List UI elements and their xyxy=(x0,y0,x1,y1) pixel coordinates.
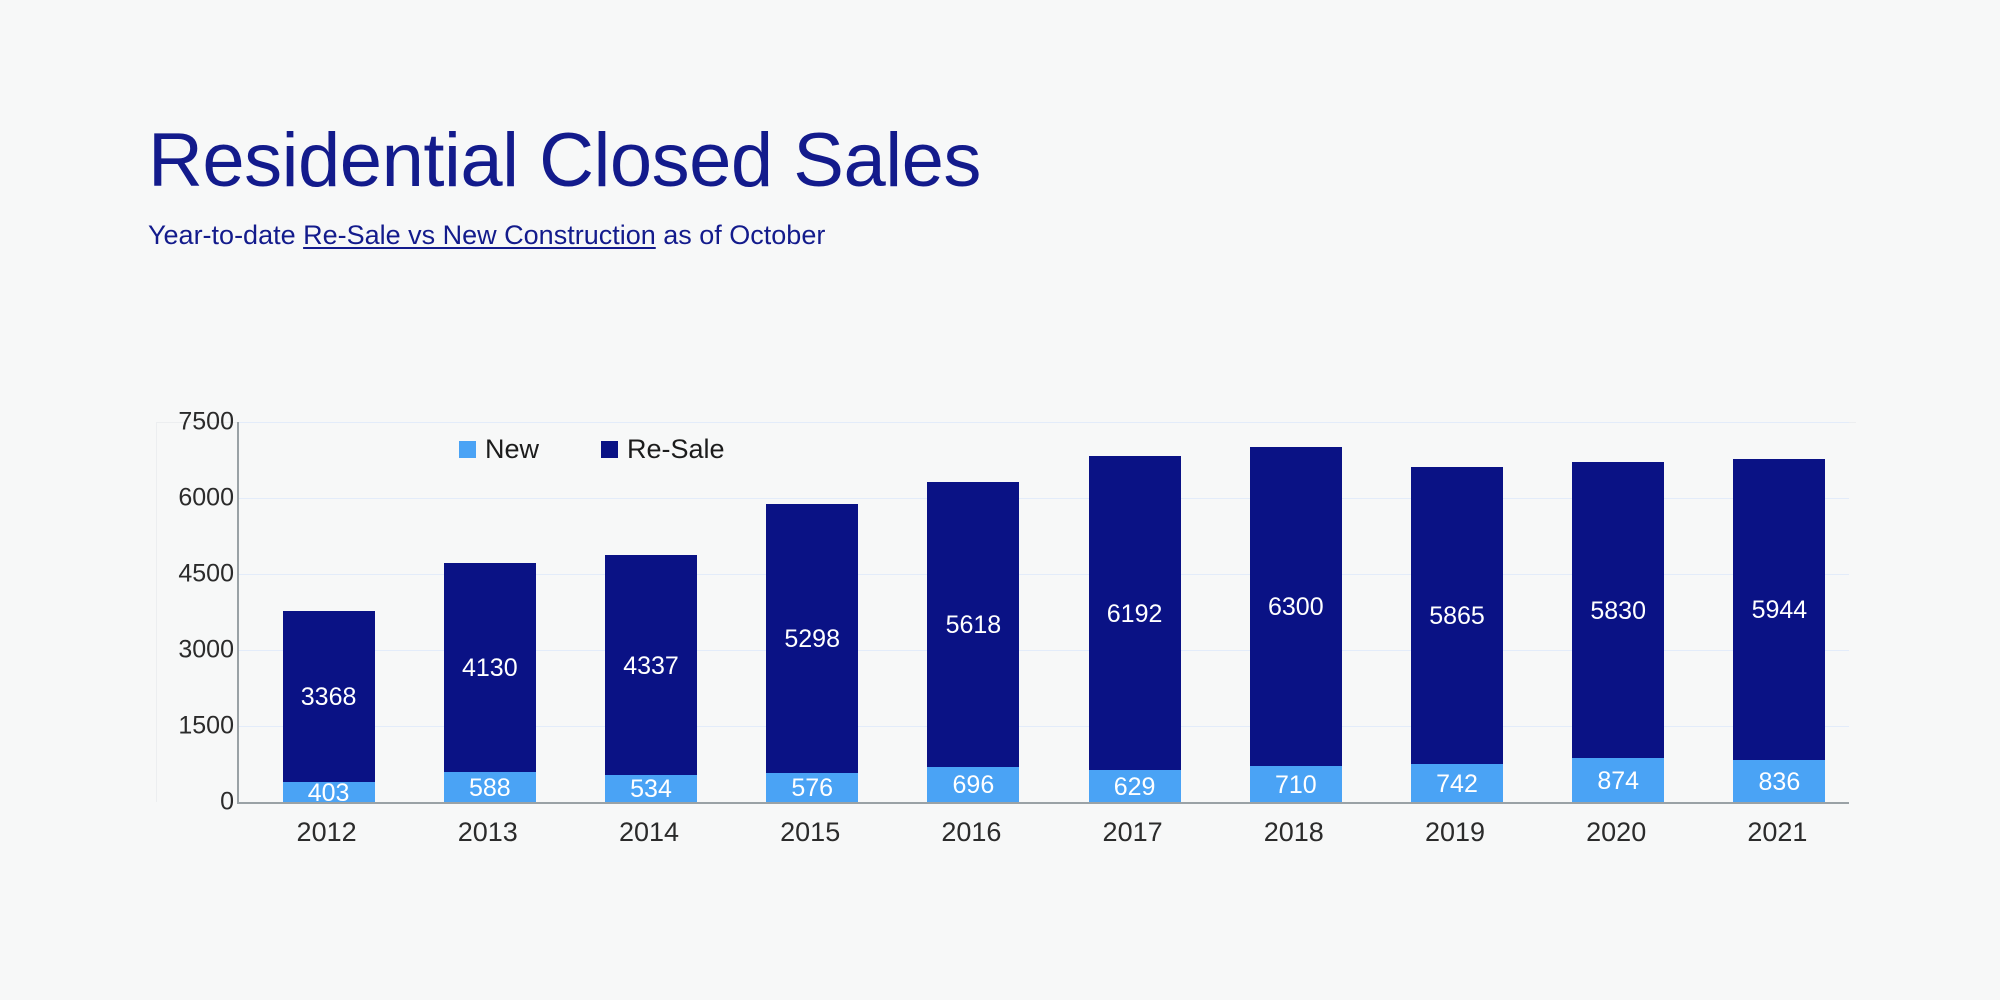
x-tick-label: 2020 xyxy=(1546,816,1686,848)
chart-legend: NewRe-Sale xyxy=(459,436,725,463)
bar-segment-resale[interactable]: 5944 xyxy=(1733,459,1825,760)
y-axis: 015003000450060007500 xyxy=(156,422,234,842)
bar-group[interactable]: 5830874 xyxy=(1572,462,1664,802)
bar-segment-new[interactable]: 534 xyxy=(605,775,697,802)
legend-item-re-sale[interactable]: Re-Sale xyxy=(601,436,725,463)
bar-value-label: 874 xyxy=(1597,769,1639,794)
bar-value-label: 5944 xyxy=(1752,598,1808,623)
bar-segment-resale[interactable]: 6300 xyxy=(1250,447,1342,766)
bar-value-label: 576 xyxy=(791,776,833,801)
bar-segment-new[interactable]: 836 xyxy=(1733,760,1825,802)
y-tick-label: 3000 xyxy=(178,638,234,663)
bar-group[interactable]: 6192629 xyxy=(1089,456,1181,802)
x-tick-label: 2021 xyxy=(1707,816,1847,848)
bar-segment-new[interactable]: 874 xyxy=(1572,758,1664,802)
bar-value-label: 6192 xyxy=(1107,602,1163,627)
bar-value-label: 710 xyxy=(1275,773,1317,798)
bar-segment-resale[interactable]: 5865 xyxy=(1411,467,1503,764)
bar-value-label: 5618 xyxy=(946,613,1002,638)
bar-value-label: 588 xyxy=(469,776,511,801)
bar-value-label: 836 xyxy=(1759,770,1801,795)
bar-group[interactable]: 4337534 xyxy=(605,555,697,802)
legend-item-new[interactable]: New xyxy=(459,436,539,463)
page-subtitle: Year-to-date Re-Sale vs New Construction… xyxy=(148,218,1848,252)
bars-layer: 3368403413058843375345298576561869661926… xyxy=(239,422,1849,802)
bar-segment-new[interactable]: 742 xyxy=(1411,764,1503,802)
bar-group[interactable]: 5298576 xyxy=(766,504,858,802)
bar-value-label: 742 xyxy=(1436,772,1478,797)
legend-label: Re-Sale xyxy=(627,436,725,463)
x-tick-label: 2018 xyxy=(1224,816,1364,848)
bar-chart: 015003000450060007500 336840341305884337… xyxy=(156,422,1856,842)
legend-label: New xyxy=(485,436,539,463)
slide-canvas: Residential Closed Sales Year-to-date Re… xyxy=(0,0,2000,1000)
subtitle-suffix: as of October xyxy=(656,220,826,250)
bar-group[interactable]: 3368403 xyxy=(283,611,375,802)
bar-value-label: 5865 xyxy=(1429,604,1485,629)
bar-segment-resale[interactable]: 5298 xyxy=(766,504,858,772)
x-tick-label: 2015 xyxy=(740,816,880,848)
subtitle-prefix: Year-to-date xyxy=(148,220,303,250)
x-axis: 2012201320142015201620172018201920202021 xyxy=(237,816,1849,862)
x-tick-label: 2012 xyxy=(257,816,397,848)
bar-value-label: 534 xyxy=(630,777,672,802)
bar-segment-resale[interactable]: 4130 xyxy=(444,563,536,772)
legend-swatch-icon xyxy=(601,441,618,458)
x-tick-label: 2017 xyxy=(1063,816,1203,848)
bar-group[interactable]: 4130588 xyxy=(444,563,536,802)
bar-segment-resale[interactable]: 5618 xyxy=(927,482,1019,767)
bar-group[interactable]: 5944836 xyxy=(1733,459,1825,803)
bar-segment-new[interactable]: 696 xyxy=(927,767,1019,802)
bar-segment-resale[interactable]: 3368 xyxy=(283,611,375,782)
bar-segment-new[interactable]: 576 xyxy=(766,773,858,802)
bar-segment-new[interactable]: 710 xyxy=(1250,766,1342,802)
bar-segment-new[interactable]: 403 xyxy=(283,782,375,802)
x-tick-label: 2013 xyxy=(418,816,558,848)
bar-group[interactable]: 5618696 xyxy=(927,482,1019,802)
x-tick-label: 2014 xyxy=(579,816,719,848)
x-tick-label: 2019 xyxy=(1385,816,1525,848)
x-tick-label: 2016 xyxy=(901,816,1041,848)
page-title: Residential Closed Sales xyxy=(148,118,1848,204)
slide-header: Residential Closed Sales Year-to-date Re… xyxy=(148,118,1848,252)
bar-value-label: 4337 xyxy=(623,654,679,679)
bar-segment-new[interactable]: 588 xyxy=(444,772,536,802)
legend-swatch-icon xyxy=(459,441,476,458)
bar-segment-new[interactable]: 629 xyxy=(1089,770,1181,802)
bar-value-label: 5298 xyxy=(784,627,840,652)
y-tick-label: 1500 xyxy=(178,714,234,739)
y-tick-label: 4500 xyxy=(178,562,234,587)
plot-area: 3368403413058843375345298576561869661926… xyxy=(237,422,1849,802)
bar-segment-resale[interactable]: 4337 xyxy=(605,555,697,775)
bar-value-label: 629 xyxy=(1114,775,1156,800)
bar-group[interactable]: 5865742 xyxy=(1411,467,1503,802)
bar-group[interactable]: 6300710 xyxy=(1250,447,1342,802)
bar-segment-resale[interactable]: 6192 xyxy=(1089,456,1181,770)
bar-value-label: 696 xyxy=(953,773,995,798)
bar-value-label: 4130 xyxy=(462,656,518,681)
y-tick-label: 6000 xyxy=(178,486,234,511)
y-tick-label: 7500 xyxy=(178,410,234,435)
bar-segment-resale[interactable]: 5830 xyxy=(1572,462,1664,757)
bar-value-label: 5830 xyxy=(1590,599,1646,624)
bar-value-label: 6300 xyxy=(1268,595,1324,620)
subtitle-emphasis: Re-Sale vs New Construction xyxy=(303,220,656,250)
x-axis-line xyxy=(237,802,1849,804)
y-tick-label: 0 xyxy=(220,790,234,815)
bar-value-label: 3368 xyxy=(301,685,357,710)
